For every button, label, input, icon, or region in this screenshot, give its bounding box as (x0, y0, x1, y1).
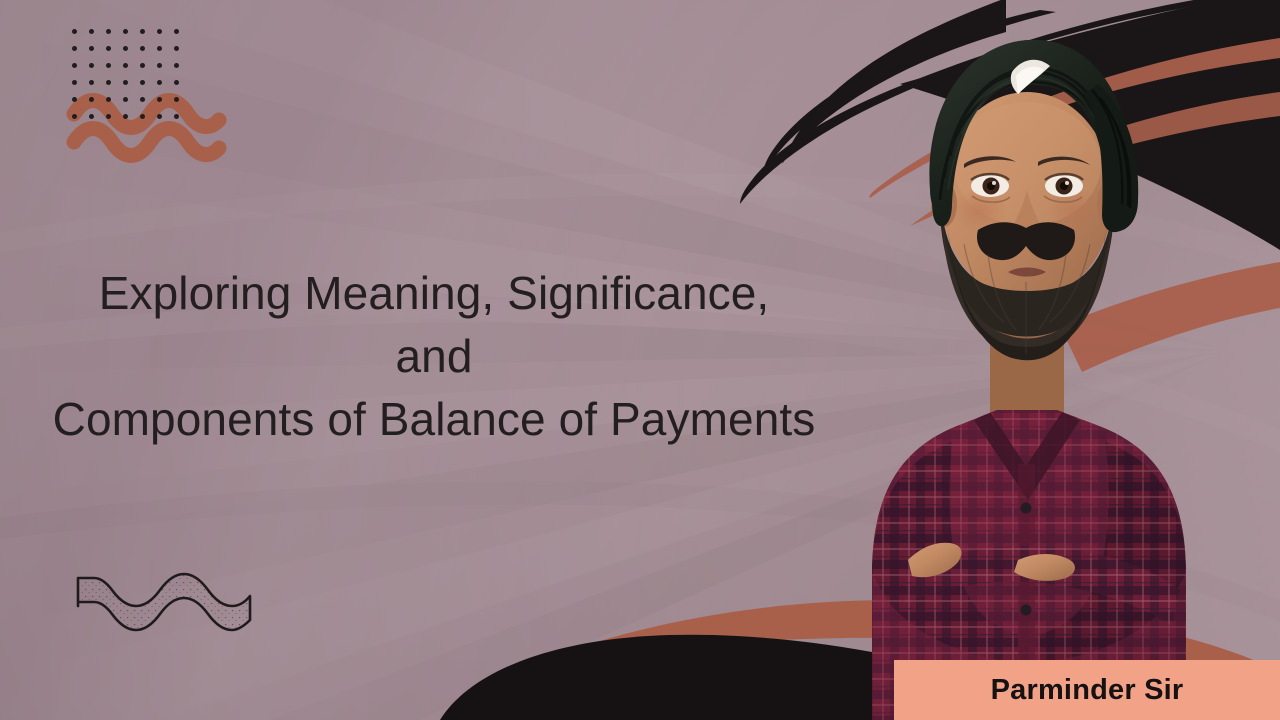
dot-grid-dot (89, 46, 94, 51)
dot-grid-dot (106, 63, 111, 68)
dot-grid-dot (157, 29, 162, 34)
title-line-3: Components of Balance of Payments (0, 388, 868, 451)
dot-grid-dot (72, 80, 77, 85)
dot-grid-dot (140, 97, 145, 102)
presenter-name-badge: Parminder Sir (894, 660, 1280, 720)
dot-grid-dot (157, 46, 162, 51)
dot-grid-dot (72, 114, 77, 119)
dot-grid-dot (174, 46, 179, 51)
dot-grid-dot (89, 80, 94, 85)
dot-grid-dot (89, 29, 94, 34)
dot-grid-dot (174, 63, 179, 68)
dot-grid-dot (106, 29, 111, 34)
dot-grid-dot (89, 97, 94, 102)
outlined-wavy-ribbon (78, 574, 250, 630)
dot-grid-dot (174, 97, 179, 102)
dot-grid-dot (123, 63, 128, 68)
dot-grid-dot (157, 114, 162, 119)
dot-grid-dot (174, 80, 179, 85)
title-line-1: Exploring Meaning, Significance, (0, 262, 868, 325)
title-line-2: and (0, 325, 868, 388)
dot-grid-dot (140, 46, 145, 51)
dot-grid-dot (174, 29, 179, 34)
dot-grid-dot (72, 29, 77, 34)
dot-grid-dot (140, 63, 145, 68)
dot-grid-dot (140, 80, 145, 85)
dot-grid-dot (89, 63, 94, 68)
dot-grid-dot (106, 114, 111, 119)
dot-grid-dot (106, 97, 111, 102)
dot-grid-dot (72, 97, 77, 102)
title-slide: Exploring Meaning, Significance, and Com… (0, 0, 1280, 720)
dot-grid-dot (72, 63, 77, 68)
dot-grid-dot (106, 46, 111, 51)
dot-grid-dot (174, 114, 179, 119)
dot-grid-dot (123, 97, 128, 102)
dot-grid-dot (157, 63, 162, 68)
dot-grid-dot (106, 80, 111, 85)
page-title: Exploring Meaning, Significance, and Com… (0, 262, 868, 451)
dot-grid-dot (157, 97, 162, 102)
dot-grid-dot (140, 29, 145, 34)
dot-grid-dot (123, 46, 128, 51)
dot-grid-dot (123, 80, 128, 85)
dot-grid-dot (123, 114, 128, 119)
dot-grid-dot (140, 114, 145, 119)
presenter-name-label: Parminder Sir (991, 674, 1184, 707)
presenter-photo (812, 14, 1242, 720)
dot-grid-dot (123, 29, 128, 34)
dot-grid-dot (72, 46, 77, 51)
dot-grid-decoration (72, 29, 180, 124)
dot-grid-dot (157, 80, 162, 85)
dot-grid-dot (89, 114, 94, 119)
